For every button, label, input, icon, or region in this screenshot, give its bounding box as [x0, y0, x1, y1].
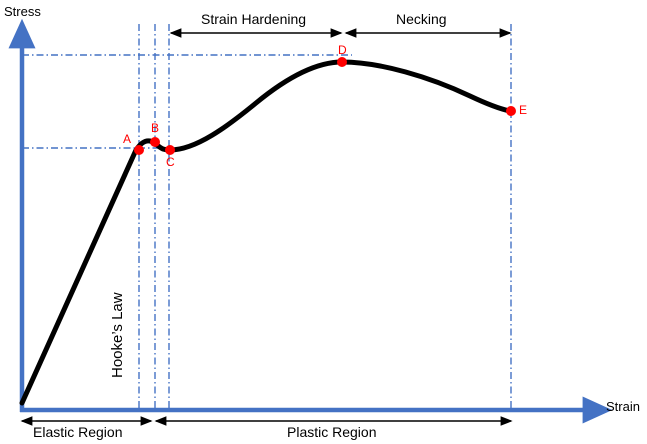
marker-point-e: [506, 106, 516, 116]
y-axis-label: Stress: [4, 5, 41, 18]
strain-hardening-label: Strain Hardening: [201, 12, 306, 26]
elastic-region-label: Elastic Region: [33, 425, 123, 439]
point-label-b: B: [151, 122, 159, 134]
stress-strain-curve: [22, 62, 510, 403]
point-label-e: E: [519, 104, 527, 116]
point-label-c: C: [166, 156, 175, 168]
chart-canvas: [0, 0, 647, 444]
marker-point-b: [150, 137, 160, 147]
marker-point-a: [134, 145, 144, 155]
x-axis-label: Strain: [606, 400, 640, 413]
marker-point-d: [337, 57, 347, 67]
marker-point-c: [165, 145, 175, 155]
hookes-law-label: Hooke’s Law: [110, 292, 125, 378]
stress-strain-diagram: Stress Strain Strain Hardening Necking E…: [0, 0, 647, 444]
point-label-a: A: [123, 133, 131, 145]
plastic-region-label: Plastic Region: [287, 425, 377, 439]
point-label-d: D: [338, 44, 347, 56]
necking-label: Necking: [396, 12, 447, 26]
